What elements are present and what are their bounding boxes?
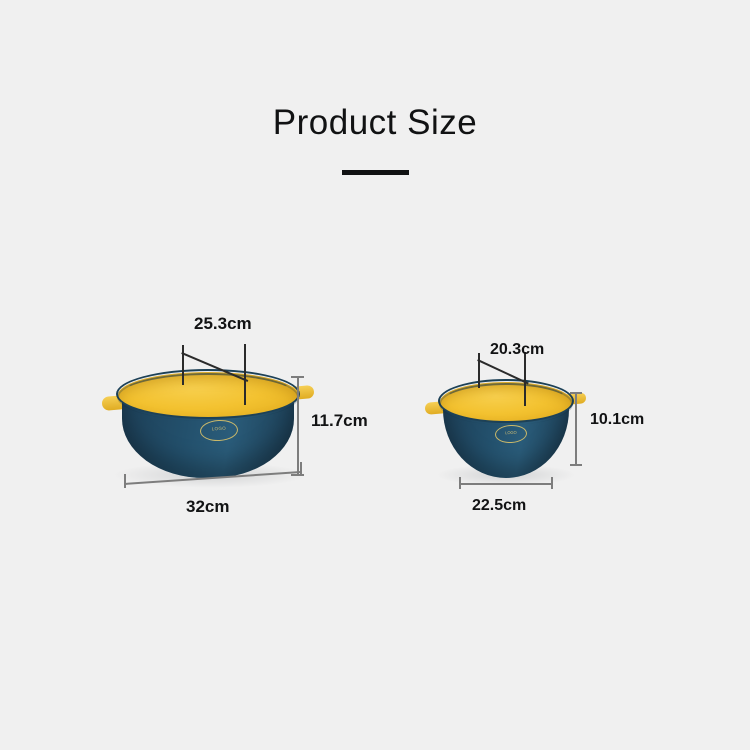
large-bowl-illustration: LOGO [108,366,308,478]
large-top-leader-right [244,344,246,405]
large-width-tick-left [124,474,126,488]
small-height-label: 10.1cm [590,411,644,429]
small-bowl-rim-highlight [439,383,573,425]
large-height-dimension-line [297,376,299,475]
small-height-dimension-line [575,392,577,465]
large-width-tick-right [300,462,302,476]
product-size-diagram: Product Size LOGO 25.3cm 11.7cm [0,0,750,750]
large-height-label: 11.7cm [311,411,368,431]
small-width-dimension-line [459,483,552,485]
small-top-diameter-label: 20.3cm [490,341,544,359]
title-block: Product Size [0,105,750,175]
large-top-diameter-label: 25.3cm [194,314,252,334]
small-bowl-illustration: LOGO [431,376,581,478]
large-bowl-rim-highlight [117,373,299,421]
small-width-label: 22.5cm [472,497,526,515]
page-title: Product Size [0,105,750,140]
large-top-leader-left [182,345,184,385]
title-underline-rule [342,170,409,175]
small-top-leader-right [524,352,526,406]
small-bowl-logo-text: LOGO [496,429,526,436]
large-bowl-logo-text: LOGO [201,425,237,432]
large-width-label: 32cm [186,497,229,517]
